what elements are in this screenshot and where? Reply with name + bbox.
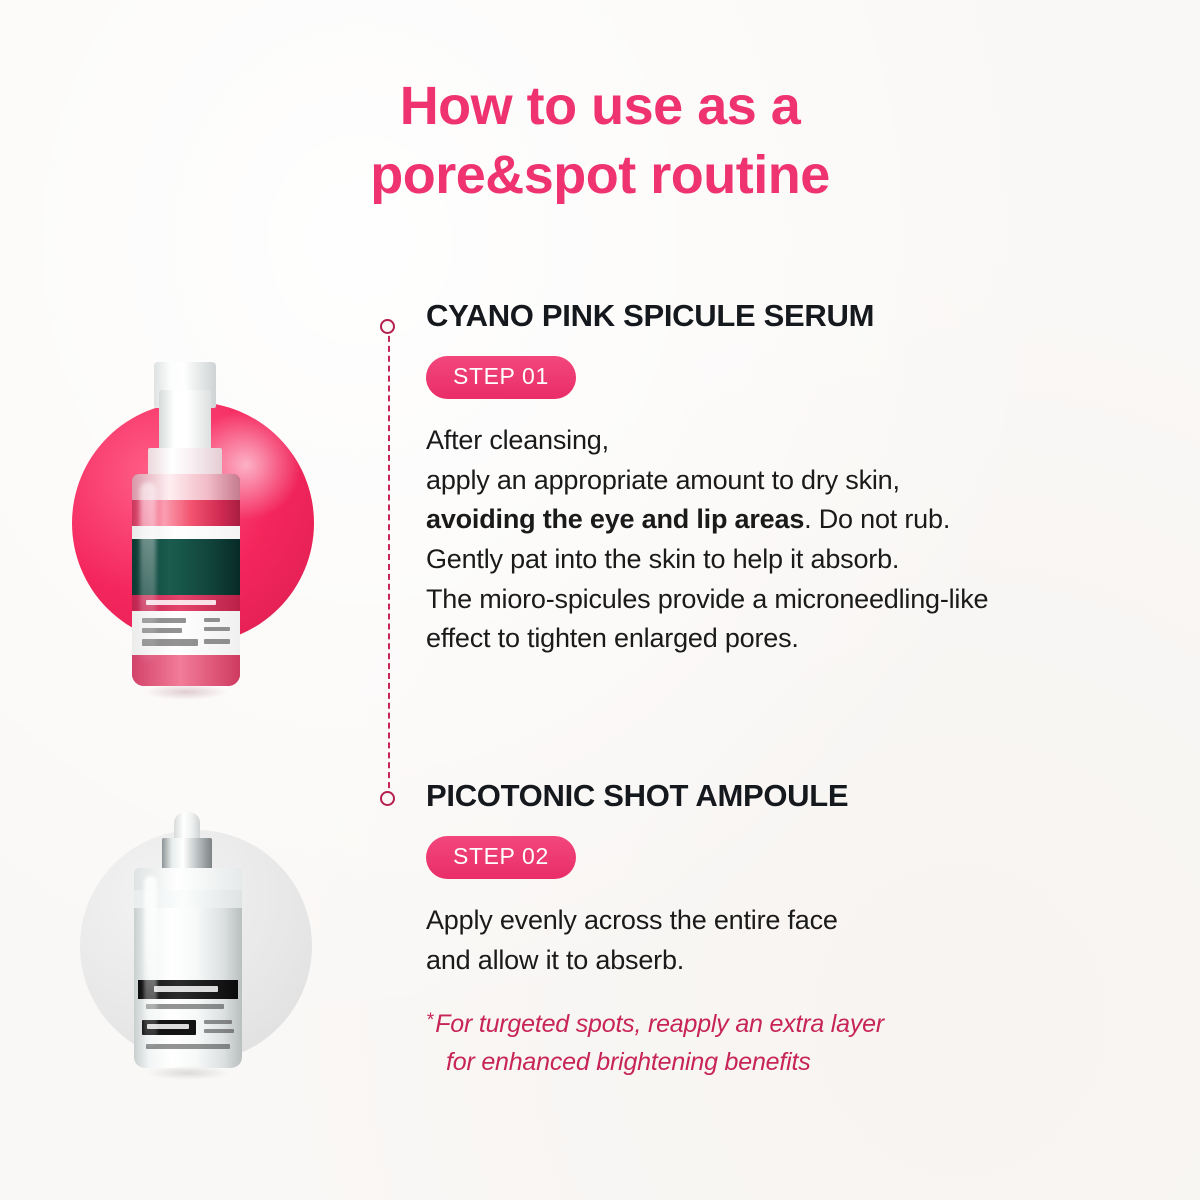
label-text-blur [204, 639, 230, 644]
timeline-dashed-line [388, 326, 390, 798]
step-01-emphasis-rest: . Do not rub. [804, 504, 950, 534]
page-title-line-1: How to use as a [0, 72, 1200, 141]
bottle-highlight [140, 482, 156, 662]
page-title-line-2: pore&spot routine [0, 141, 1200, 210]
step-01-heading: CYANO PINK SPICULE SERUM [426, 298, 988, 334]
step-02-heading: PICOTONIC SHOT AMPOULE [426, 778, 884, 814]
footnote-text-2: for enhanced brightening benefits [426, 1044, 811, 1082]
dropper-collar [162, 838, 212, 870]
bottle-shadow [146, 1066, 230, 1080]
step-01-badge: STEP 01 [426, 356, 576, 399]
step-section-02: PICOTONIC SHOT AMPOULE STEP 02 Apply eve… [426, 778, 884, 1081]
step-01-emphasis-text: avoiding the eye and lip areas [426, 504, 804, 534]
step-section-01: CYANO PINK SPICULE SERUM STEP 01 After c… [426, 298, 988, 659]
label-text-blur [146, 1004, 224, 1009]
page-title: How to use as a pore&spot routine [0, 72, 1200, 210]
bottle-highlight [144, 876, 157, 1046]
timeline-marker-step-02 [380, 791, 395, 806]
product-image-cyano-pink-spicule-serum [62, 352, 362, 732]
label-text-blur [146, 1044, 230, 1049]
timeline-marker-step-01 [380, 319, 395, 334]
step-01-body-line-emphasis: avoiding the eye and lip areas. Do not r… [426, 500, 988, 540]
label-brand-text-blur [146, 600, 216, 605]
step-01-body: After cleansing, apply an appropriate am… [426, 421, 988, 659]
footnote-text-1: For turgeted spots, reapply an extra lay… [435, 1010, 884, 1038]
label-text-blur [204, 1029, 234, 1033]
step-02-footnote: *For turgeted spots, reapply an extra la… [426, 1006, 884, 1081]
label-text-blur [204, 618, 220, 622]
label-text-blur [204, 627, 230, 631]
step-01-body-line: Gently pat into the skin to help it abso… [426, 540, 988, 580]
label-text-blur [204, 1020, 232, 1024]
step-01-body-line: effect to tighten enlarged pores. [426, 619, 988, 659]
label-brand-text-blur [154, 986, 218, 992]
pump-head [159, 390, 211, 454]
footnote-line-2: for enhanced brightening benefits [426, 1044, 884, 1082]
asterisk-icon: * [426, 1010, 433, 1031]
product-image-picotonic-shot-ampoule [62, 812, 362, 1152]
step-02-body-line: and allow it to abserb. [426, 941, 884, 981]
step-02-body-line: Apply evenly across the entire face [426, 901, 884, 941]
step-02-body: Apply evenly across the entire face and … [426, 901, 884, 980]
step-01-body-line: The mioro-spicules provide a microneedli… [426, 580, 988, 620]
step-timeline-connector [380, 310, 398, 810]
step-01-body-line: apply an appropriate amount to dry skin, [426, 461, 988, 501]
footnote-line-1: *For turgeted spots, reapply an extra la… [426, 1006, 884, 1044]
bottle-shadow [144, 684, 228, 700]
step-02-badge: STEP 02 [426, 836, 576, 879]
step-01-body-line: After cleansing, [426, 421, 988, 461]
